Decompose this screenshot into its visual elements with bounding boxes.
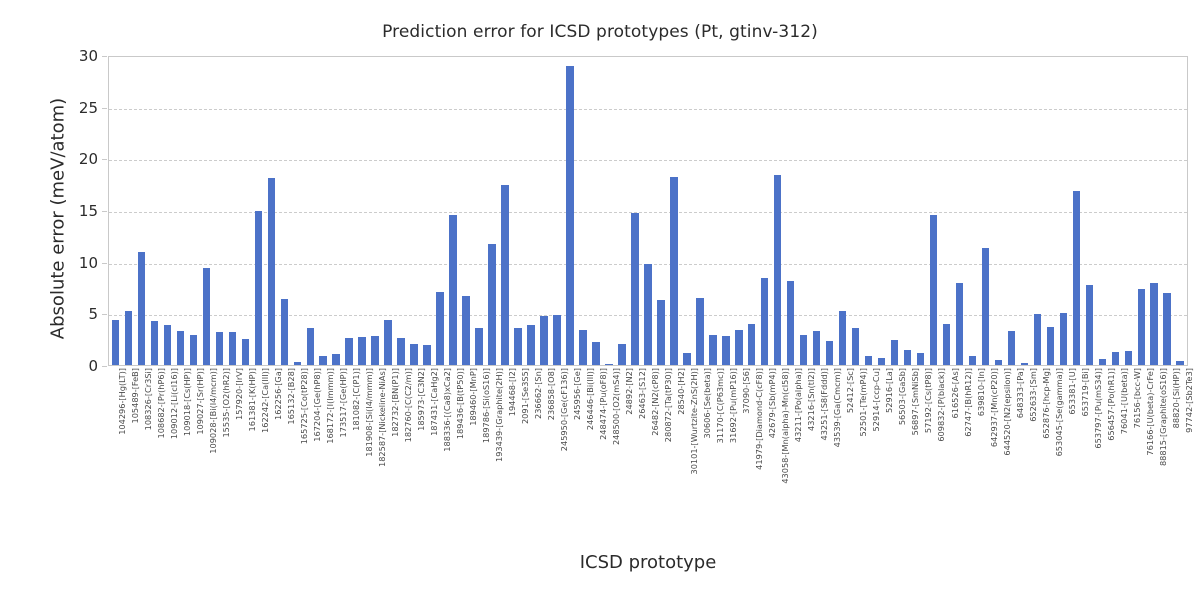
bar[interactable] bbox=[268, 178, 276, 365]
x-axis-label: ICSD prototype bbox=[108, 552, 1188, 573]
bar[interactable] bbox=[488, 244, 496, 365]
bar[interactable] bbox=[553, 315, 561, 365]
bar[interactable] bbox=[826, 341, 834, 365]
x-tick-slot: 56503-[GaSb] bbox=[889, 368, 902, 548]
bar[interactable] bbox=[904, 350, 912, 366]
x-tick-slot: 31170-[C(P63mc)] bbox=[707, 368, 720, 548]
x-tick-slot: 182587-[Nickeline-NiAs] bbox=[368, 368, 381, 548]
bar-slot bbox=[719, 57, 732, 365]
x-tick-slot: 52914-[ccp-Cu] bbox=[863, 368, 876, 548]
x-tick-slot: 167204-[Ge(hP8)] bbox=[303, 368, 316, 548]
bar-slot bbox=[1096, 57, 1109, 365]
bar-slot bbox=[122, 57, 135, 365]
x-tick-slot: 2091-[Se3S5] bbox=[511, 368, 524, 548]
bar[interactable] bbox=[618, 344, 626, 365]
bar-slot bbox=[537, 57, 550, 365]
bar-slot bbox=[161, 57, 174, 365]
bar-slot bbox=[317, 57, 330, 365]
x-tick-slot: 245950-[Ge(cF136)] bbox=[551, 368, 564, 548]
bar-slot bbox=[784, 57, 797, 365]
bar-slot bbox=[563, 57, 576, 365]
bar[interactable] bbox=[151, 321, 159, 365]
bar-slot bbox=[135, 57, 148, 365]
bar-slot bbox=[745, 57, 758, 365]
bar-slot bbox=[576, 57, 589, 365]
bar-slot bbox=[356, 57, 369, 365]
bar[interactable] bbox=[748, 324, 756, 365]
x-tick-slot: 62747-[B(hR12)] bbox=[954, 368, 967, 548]
bar[interactable] bbox=[436, 292, 444, 365]
y-axis-tick-25: 25 bbox=[60, 99, 98, 117]
x-tick-slot: 639810-[In] bbox=[967, 368, 980, 548]
bar[interactable] bbox=[800, 335, 808, 365]
x-tick-slot: 248474-[Pu(oF8)] bbox=[590, 368, 603, 548]
bar[interactable] bbox=[813, 331, 821, 365]
x-tick-slot: 97742-[Sb2Te3] bbox=[1175, 368, 1188, 548]
bar-slot bbox=[706, 57, 719, 365]
bar[interactable] bbox=[657, 300, 665, 365]
bar[interactable] bbox=[1176, 361, 1184, 365]
x-tick-slot: 26463-[S12] bbox=[629, 368, 642, 548]
x-tick-slot: 88815-[Graphite(oS16)] bbox=[1149, 368, 1162, 548]
x-tick-slot: 642937-[Mn(cP20)] bbox=[980, 368, 993, 548]
bar-slot bbox=[888, 57, 901, 365]
bar[interactable] bbox=[242, 339, 250, 365]
bar[interactable] bbox=[177, 331, 185, 365]
x-tick-slot: 43539-[Ga(Cmcm)] bbox=[824, 368, 837, 548]
x-tick-slot: 245956-[Ge] bbox=[564, 368, 577, 548]
bar[interactable] bbox=[1138, 289, 1146, 365]
bar[interactable] bbox=[605, 364, 613, 365]
bar-slot bbox=[330, 57, 343, 365]
bar[interactable] bbox=[319, 356, 327, 365]
bar-slot bbox=[395, 57, 408, 365]
bar-slot bbox=[901, 57, 914, 365]
bar-slot bbox=[278, 57, 291, 365]
bar[interactable] bbox=[1008, 331, 1016, 365]
bar[interactable] bbox=[281, 299, 289, 365]
bar[interactable] bbox=[307, 328, 315, 365]
bar[interactable] bbox=[514, 328, 522, 365]
y-tick-mark bbox=[102, 56, 107, 57]
bar-slot bbox=[654, 57, 667, 365]
x-tick-slot: 108326-[Cr3Si] bbox=[134, 368, 147, 548]
bar-slot bbox=[486, 57, 499, 365]
bar[interactable] bbox=[164, 325, 172, 365]
bar-slot bbox=[836, 57, 849, 365]
x-tick-slot: 653045-[Se(gamma)] bbox=[1045, 368, 1058, 548]
bar[interactable] bbox=[255, 211, 263, 365]
x-tick-slot: 609832-[P(black)] bbox=[928, 368, 941, 548]
bar-slot bbox=[200, 57, 213, 365]
bar[interactable] bbox=[670, 177, 678, 365]
x-tick-slot: 56897-[SmNiSb] bbox=[902, 368, 915, 548]
x-tick-slot: 76156-[bcc-W] bbox=[1123, 368, 1136, 548]
bar-slot bbox=[213, 57, 226, 365]
bar[interactable] bbox=[527, 325, 535, 365]
bar-slot bbox=[1070, 57, 1083, 365]
bar-slot bbox=[525, 57, 538, 365]
bar-slot bbox=[109, 57, 122, 365]
bar-slot bbox=[1031, 57, 1044, 365]
bar[interactable] bbox=[1125, 351, 1133, 365]
bar[interactable] bbox=[566, 66, 574, 365]
x-tick-slot: 30101-[Wurtzite-ZnS(2H)] bbox=[681, 368, 694, 548]
bar-slot bbox=[447, 57, 460, 365]
x-tick-slot: 162242-[Ca(III)] bbox=[251, 368, 264, 548]
x-tick-slot: 161381-[K(HP)] bbox=[238, 368, 251, 548]
bar-slot bbox=[512, 57, 525, 365]
bar-slot bbox=[667, 57, 680, 365]
bar[interactable] bbox=[216, 332, 224, 365]
bar[interactable] bbox=[579, 330, 587, 365]
bar-slot bbox=[693, 57, 706, 365]
bar[interactable] bbox=[462, 296, 470, 365]
bar[interactable] bbox=[449, 215, 457, 365]
y-axis-tick-30: 30 bbox=[60, 47, 98, 65]
bar[interactable] bbox=[332, 354, 340, 365]
bar-slot bbox=[304, 57, 317, 365]
x-tick-slot: 76166-[U(beta)-CrFe] bbox=[1136, 368, 1149, 548]
x-axis-tick-label: 97742-[Sb2Te3] bbox=[1185, 368, 1193, 433]
bar[interactable] bbox=[995, 360, 1003, 365]
x-tick-slot: 185973-[C3N2] bbox=[407, 368, 420, 548]
bar-slot bbox=[823, 57, 836, 365]
bar[interactable] bbox=[917, 353, 925, 365]
y-tick-mark bbox=[102, 314, 107, 315]
bar[interactable] bbox=[501, 185, 509, 365]
x-tick-slot: 182760-[C(C2/m)] bbox=[394, 368, 407, 548]
bar-slot bbox=[421, 57, 434, 365]
bar-slot bbox=[1174, 57, 1187, 365]
bar[interactable] bbox=[371, 336, 379, 365]
bar[interactable] bbox=[943, 324, 951, 365]
bar[interactable] bbox=[294, 362, 302, 365]
bar-slot bbox=[239, 57, 252, 365]
x-tick-slot: 188336-[(Ca8)xCa2] bbox=[433, 368, 446, 548]
bar-slot bbox=[966, 57, 979, 365]
bar[interactable] bbox=[190, 335, 198, 365]
x-tick-slot: 189786-[Si(oS16)] bbox=[472, 368, 485, 548]
bar-slot bbox=[927, 57, 940, 365]
bar[interactable] bbox=[839, 311, 847, 365]
bar[interactable] bbox=[969, 356, 977, 365]
x-tick-slot: 109028-[Bi(I4/mcm)] bbox=[199, 368, 212, 548]
bar-slot bbox=[1135, 57, 1148, 365]
x-tick-slot: 37090-[S6] bbox=[733, 368, 746, 548]
x-tick-slot: 108682-[Pr(hP6)] bbox=[147, 368, 160, 548]
bar[interactable] bbox=[1060, 313, 1068, 365]
bar-slot bbox=[226, 57, 239, 365]
bar[interactable] bbox=[345, 338, 353, 365]
x-tick-slot: 30606-[Se(beta)] bbox=[694, 368, 707, 548]
bar-slot bbox=[252, 57, 265, 365]
bar-slot bbox=[732, 57, 745, 365]
y-axis-tick-15: 15 bbox=[60, 202, 98, 220]
bar-slot bbox=[771, 57, 784, 365]
bar[interactable] bbox=[1163, 293, 1171, 365]
x-tick-slot: 236662-[Sn] bbox=[525, 368, 538, 548]
bar-slot bbox=[460, 57, 473, 365]
bar[interactable] bbox=[138, 252, 146, 365]
x-tick-slot: 181082-[C(P1)] bbox=[342, 368, 355, 548]
bar-slot bbox=[992, 57, 1005, 365]
bar-slot bbox=[797, 57, 810, 365]
y-axis-tick-10: 10 bbox=[60, 254, 98, 272]
bar[interactable] bbox=[878, 358, 886, 365]
bar-slot bbox=[291, 57, 304, 365]
bar-slot bbox=[589, 57, 602, 365]
bar-slot bbox=[265, 57, 278, 365]
bar-slot bbox=[369, 57, 382, 365]
bar[interactable] bbox=[930, 215, 938, 365]
bar-slot bbox=[148, 57, 161, 365]
x-tick-slot: 26482-[N2(cP8)] bbox=[642, 368, 655, 548]
bar[interactable] bbox=[1021, 363, 1029, 365]
x-axis-tick-labels: 104296-[Hg(LT)]105489-[FeB]108326-[Cr3Si… bbox=[108, 368, 1188, 548]
x-tick-slot: 42679-[Sb(mP4)] bbox=[759, 368, 772, 548]
bar-slot bbox=[382, 57, 395, 365]
bar-slot bbox=[187, 57, 200, 365]
x-tick-slot: 652876-[hcp-Mg] bbox=[1032, 368, 1045, 548]
x-tick-slot: 644520-[N2(epsilon)] bbox=[993, 368, 1006, 548]
bar-slot bbox=[1057, 57, 1070, 365]
x-tick-slot: 173517-[Ge(HP)] bbox=[329, 368, 342, 548]
x-tick-slot: 653719-[Bi] bbox=[1071, 368, 1084, 548]
bar-slot bbox=[1044, 57, 1057, 365]
x-tick-slot: 193439-[Graphite(2H)] bbox=[485, 368, 498, 548]
x-tick-slot: 52916-[La] bbox=[876, 368, 889, 548]
x-tick-slot: 182732-[BN(P1)] bbox=[381, 368, 394, 548]
bar-slot bbox=[758, 57, 771, 365]
bar[interactable] bbox=[1047, 327, 1055, 365]
y-tick-mark bbox=[102, 211, 107, 212]
x-tick-slot: 31692-[Pu(mP16)] bbox=[720, 368, 733, 548]
x-tick-slot: 162256-[Ga] bbox=[264, 368, 277, 548]
bar[interactable] bbox=[540, 316, 548, 365]
y-tick-mark bbox=[102, 366, 107, 367]
y-axis-tick-0: 0 bbox=[60, 357, 98, 375]
bar[interactable] bbox=[423, 345, 431, 365]
bar[interactable] bbox=[787, 281, 795, 365]
bar[interactable] bbox=[592, 342, 600, 365]
x-tick-slot: 15535-[O2(hR2)] bbox=[212, 368, 225, 548]
bar[interactable] bbox=[475, 328, 483, 365]
bar[interactable] bbox=[956, 283, 964, 365]
bar[interactable] bbox=[644, 264, 652, 365]
x-tick-slot: 157920-[IrV] bbox=[225, 368, 238, 548]
x-tick-slot: 194468-[I2] bbox=[498, 368, 511, 548]
bar-slot bbox=[434, 57, 447, 365]
x-tick-slot: 168172-[I(Immm)] bbox=[316, 368, 329, 548]
bar-slot bbox=[641, 57, 654, 365]
bar-slot bbox=[680, 57, 693, 365]
y-axis-tick-20: 20 bbox=[60, 150, 98, 168]
y-tick-mark bbox=[102, 263, 107, 264]
bar[interactable] bbox=[982, 248, 990, 365]
bar[interactable] bbox=[696, 298, 704, 365]
bar-slot bbox=[615, 57, 628, 365]
x-tick-slot: 246446-[Bi(III)] bbox=[577, 368, 590, 548]
bar[interactable] bbox=[410, 344, 418, 365]
bar-slot bbox=[473, 57, 486, 365]
bar[interactable] bbox=[112, 320, 120, 365]
bar[interactable] bbox=[203, 268, 211, 365]
bar-slot bbox=[343, 57, 356, 365]
x-tick-slot: 187431-[CaHg2] bbox=[420, 368, 433, 548]
bar-slot bbox=[550, 57, 563, 365]
x-tick-slot: 181908-[Si(I4/mmm)] bbox=[355, 368, 368, 548]
bar[interactable] bbox=[358, 337, 366, 365]
x-tick-slot: 189460-[MnP] bbox=[459, 368, 472, 548]
x-tick-slot: 105489-[FeB] bbox=[121, 368, 134, 548]
x-tick-slot: 165132-[B28] bbox=[277, 368, 290, 548]
bar-slot bbox=[1018, 57, 1031, 365]
y-tick-mark bbox=[102, 108, 107, 109]
x-tick-slot: 104296-[Hg(LT)] bbox=[108, 368, 121, 548]
bar[interactable] bbox=[709, 335, 717, 365]
x-tick-slot: 88820-[Si(HP)] bbox=[1162, 368, 1175, 548]
bar-slot bbox=[979, 57, 992, 365]
bar[interactable] bbox=[397, 338, 405, 365]
x-tick-slot: 109018-[Cs(HP)] bbox=[173, 368, 186, 548]
bar[interactable] bbox=[735, 330, 743, 365]
bar[interactable] bbox=[631, 213, 639, 365]
bar-slot bbox=[1005, 57, 1018, 365]
x-tick-slot: 248500-[O2(mS4)] bbox=[603, 368, 616, 548]
bar-slot bbox=[1148, 57, 1161, 365]
bar-slot bbox=[602, 57, 615, 365]
bar[interactable] bbox=[1073, 191, 1081, 365]
x-tick-slot: 24892-[N2] bbox=[616, 368, 629, 548]
x-tick-slot: 656457-[Po(hR1)] bbox=[1097, 368, 1110, 548]
x-tick-slot: 52412-[Sc] bbox=[837, 368, 850, 548]
bar-slot bbox=[940, 57, 953, 365]
plot-area bbox=[108, 56, 1188, 366]
x-tick-slot: 165725-[Co(tP28)] bbox=[290, 368, 303, 548]
bar-slot bbox=[953, 57, 966, 365]
bar-slot bbox=[849, 57, 862, 365]
bar-slot bbox=[1161, 57, 1174, 365]
bar[interactable] bbox=[774, 175, 782, 365]
bar[interactable] bbox=[384, 320, 392, 365]
bar[interactable] bbox=[891, 340, 899, 365]
x-tick-slot: 653797-[Pu(mS34)] bbox=[1084, 368, 1097, 548]
x-tick-slot: 280872-[Ta(tP30)] bbox=[655, 368, 668, 548]
x-tick-slot: 76041-[U(beta)] bbox=[1110, 368, 1123, 548]
bar[interactable] bbox=[1150, 283, 1158, 365]
bar[interactable] bbox=[125, 311, 133, 365]
x-tick-slot: 236858-[O8] bbox=[538, 368, 551, 548]
bar[interactable] bbox=[683, 353, 691, 365]
x-tick-slot: 41979-[Diamond-C(cF8)] bbox=[746, 368, 759, 548]
bar-slot bbox=[628, 57, 641, 365]
chart-figure: Prediction error for ICSD prototypes (Pt… bbox=[0, 0, 1200, 600]
bar-slot bbox=[408, 57, 421, 365]
x-tick-slot: 28540-[H2] bbox=[668, 368, 681, 548]
x-tick-slot: 616526-[As] bbox=[941, 368, 954, 548]
x-tick-slot: 43058-[Mn(alpha)-Mn(cI58)] bbox=[772, 368, 785, 548]
bar[interactable] bbox=[852, 328, 860, 365]
x-tick-slot: 52501-[Te(mP4)] bbox=[850, 368, 863, 548]
x-tick-slot: 189436-[B(tP50)] bbox=[446, 368, 459, 548]
bar[interactable] bbox=[722, 336, 730, 365]
bar[interactable] bbox=[761, 278, 769, 365]
bar[interactable] bbox=[1099, 359, 1107, 365]
bar-slot bbox=[1122, 57, 1135, 365]
y-axis-tick-5: 5 bbox=[60, 305, 98, 323]
bar[interactable] bbox=[1034, 314, 1042, 365]
bar-slot bbox=[174, 57, 187, 365]
x-tick-slot: 648333-[Pa] bbox=[1006, 368, 1019, 548]
y-tick-mark bbox=[102, 159, 107, 160]
bar-slot bbox=[914, 57, 927, 365]
bar-slot bbox=[1083, 57, 1096, 365]
x-tick-slot: 43251-[S8(Fddd)] bbox=[811, 368, 824, 548]
bar-slot bbox=[875, 57, 888, 365]
x-tick-slot: 652633-[Sm] bbox=[1019, 368, 1032, 548]
bar[interactable] bbox=[865, 356, 873, 365]
bar-slot bbox=[499, 57, 512, 365]
bar[interactable] bbox=[1086, 285, 1094, 365]
x-tick-slot: 43216-[Sn(tI2)] bbox=[798, 368, 811, 548]
x-tick-slot: 109027-[Sr(HP)] bbox=[186, 368, 199, 548]
x-tick-slot: 653381-[U] bbox=[1058, 368, 1071, 548]
bar-slot bbox=[862, 57, 875, 365]
bar[interactable] bbox=[229, 332, 237, 365]
x-tick-slot: 57192-[Cs(tP8)] bbox=[915, 368, 928, 548]
bar-series bbox=[109, 57, 1187, 365]
x-tick-slot: 109012-[Li(cI16)] bbox=[160, 368, 173, 548]
bar-slot bbox=[1109, 57, 1122, 365]
page-title: Prediction error for ICSD prototypes (Pt… bbox=[0, 22, 1200, 42]
bar[interactable] bbox=[1112, 352, 1120, 365]
x-tick-slot: 43211-[Po(alpha)] bbox=[785, 368, 798, 548]
bar-slot bbox=[810, 57, 823, 365]
